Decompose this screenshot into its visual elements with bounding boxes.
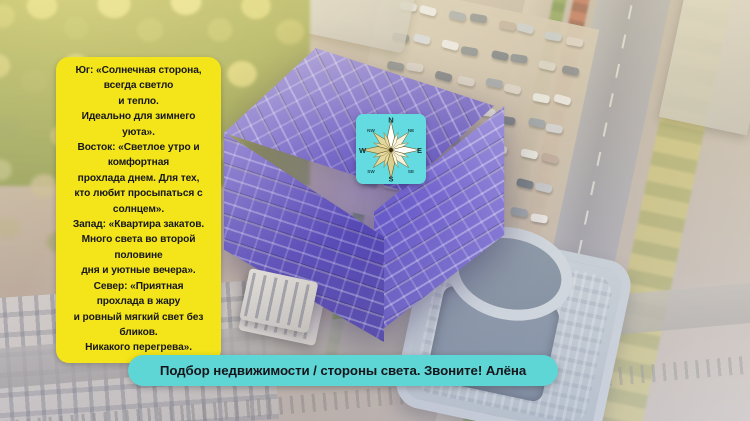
info-card-line: и ровный мягкий свет без bbox=[61, 310, 216, 325]
compass-rose-icon: N E S W NW NE SW SE bbox=[356, 114, 426, 184]
info-card-line: Много света во второй bbox=[61, 232, 216, 247]
info-card-line: дня и уютные вечера». bbox=[61, 263, 216, 278]
compass-label-se: SE bbox=[408, 169, 414, 174]
info-card-line: комфортная bbox=[61, 155, 216, 170]
info-card-line: Север: «Приятная bbox=[61, 279, 216, 294]
info-card-line: Запад: «Квартира закатов. bbox=[61, 217, 216, 232]
poster-canvas: Юг: «Солнечная сторона, всегда светло и … bbox=[0, 0, 750, 421]
info-card-line: половине bbox=[61, 248, 216, 263]
cta-label: Подбор недвижимости / стороны света. Зво… bbox=[160, 363, 526, 378]
info-card-line: прохлада в жару bbox=[61, 294, 216, 309]
info-card-line: и тепло. bbox=[61, 94, 216, 109]
info-card-line: Никакого перегрева». bbox=[61, 340, 216, 355]
compass-label-e: E bbox=[417, 146, 422, 155]
info-card-line: Юг: «Солнечная сторона, bbox=[61, 63, 216, 78]
compass-label-n: N bbox=[388, 116, 393, 125]
info-card-line: бликов. bbox=[61, 325, 216, 340]
directions-info-card: Юг: «Солнечная сторона, всегда светло и … bbox=[56, 57, 221, 363]
compass-label-sw: SW bbox=[367, 169, 375, 174]
compass-label-ne: NE bbox=[408, 128, 414, 133]
info-card-line: уюта». bbox=[61, 125, 216, 140]
compass-rose-badge: N E S W NW NE SW SE bbox=[356, 114, 426, 184]
info-card-line: всегда светло bbox=[61, 78, 216, 93]
compass-label-s: S bbox=[388, 175, 393, 184]
info-card-line: прохлада днем. Для тех, bbox=[61, 171, 216, 186]
info-card-line: кто любит просыпаться с bbox=[61, 186, 216, 201]
compass-label-w: W bbox=[359, 146, 367, 155]
compass-label-nw: NW bbox=[367, 128, 375, 133]
info-card-line: Идеально для зимнего bbox=[61, 109, 216, 124]
info-card-line: Восток: «Светлое утро и bbox=[61, 140, 216, 155]
info-card-line: солнцем». bbox=[61, 202, 216, 217]
call-to-action-banner[interactable]: Подбор недвижимости / стороны света. Зво… bbox=[128, 355, 558, 386]
